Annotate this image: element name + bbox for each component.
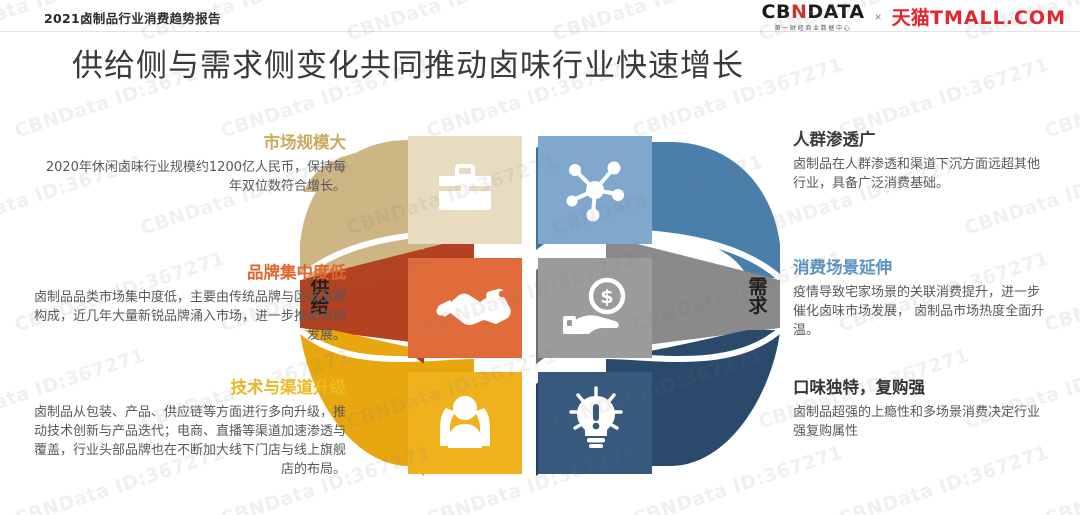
supply-demand-diagram: $ [288,128,792,480]
supply-block-brand-concentration: 品牌集中度低 卤制品品类市场集中度低，主要由传统品牌与区域品牌构成，近几年大量新… [34,263,346,345]
header-divider [0,31,1080,32]
supply-block-tech-channel: 技术与渠道升级 卤制品从包装、产品、供应链等方面进行多向升级，推动技术创新与产品… [34,378,346,479]
cbndata-wordmark: CBNDATA [762,3,865,22]
cbndata-suffix: DATA [807,1,864,23]
block-body: 2020年休闲卤味行业规模约1200亿人民币，保持每年双位数符合增长。 [34,158,346,196]
slide-header: 2021卤制品行业消费趋势报告 CBNDATA 第一财经商业数据中心 × 天猫T… [0,0,1080,31]
demand-block-penetration: 人群渗透广 卤制品在人群渗透和渠道下沉方面远超其他行业，具备广泛消费基础。 [793,130,1045,193]
block-heading: 市场规模大 [34,133,346,154]
block-body: 卤制品在人群渗透和渠道下沉方面远超其他行业，具备广泛消费基础。 [793,155,1045,193]
tmall-logo: 天猫TMALL.COM [892,3,1066,30]
svg-text:$: $ [600,286,613,308]
block-body: 卤制品从包装、产品、供应链等方面进行多向升级，推动技术创新与产品迭代；电商、直播… [34,403,346,479]
block-heading: 消费场景延伸 [793,258,1045,279]
watermark-text: CBNData ID:367271 [1042,248,1080,337]
tmall-en-label: TMALL.COM [930,7,1066,29]
watermark-text: CBNData ID:367271 [1042,442,1080,515]
tmall-cn-label: 天猫 [892,7,930,29]
block-body: 卤制品超强的上瘾性和多场景消费决定行业强复购属性 [793,403,1045,441]
cbndata-prefix: CB [762,1,791,23]
watermark-text: CBNData ID:367271 [836,442,1052,515]
diagram-svg: $ [288,128,792,480]
block-heading: 品牌集中度低 [34,263,346,284]
cbndata-subtitle: 第一财经商业数据中心 [775,25,852,31]
demand-label-char-2: 求 [748,295,767,317]
brand-cross-separator: × [874,10,883,24]
cbndata-logo: CBNDATA 第一财经商业数据中心 [762,3,865,31]
demand-block-consumption-scene: 消费场景延伸 疫情导致宅家场景的关联消费提升，进一步催化卤味市场发展， 卤制品市… [793,258,1045,340]
demand-block-taste-repeat: 口味独特，复购强 卤制品超强的上瘾性和多场景消费决定行业强复购属性 [793,378,1045,441]
block-heading: 人群渗透广 [793,130,1045,151]
supply-block-market-size: 市场规模大 2020年休闲卤味行业规模约1200亿人民币，保持每年双位数符合增长… [34,133,346,196]
report-kicker: 2021卤制品行业消费趋势报告 [44,8,221,27]
block-heading: 口味独特，复购强 [793,378,1045,399]
tile-supply-tech-channel[interactable] [408,372,522,474]
block-body: 疫情导致宅家场景的关联消费提升，进一步催化卤味市场发展， 卤制品市场热度全面升温… [793,283,1045,340]
block-heading: 技术与渠道升级 [34,378,346,399]
block-body: 卤制品品类市场集中度低，主要由传统品牌与区域品牌构成，近几年大量新锐品牌涌入市场… [34,288,346,345]
page-title: 供给侧与需求侧变化共同推动卤味行业快速增长 [72,40,744,85]
slide-root: 2021卤制品行业消费趋势报告 CBNDATA 第一财经商业数据中心 × 天猫T… [0,0,1080,515]
watermark-text: CBNData ID:367271 [1042,54,1080,143]
brand-lockup: CBNDATA 第一财经商业数据中心 × 天猫TMALL.COM [762,3,1066,31]
demand-side-label: 需 求 [747,278,769,317]
cbndata-x-glyph: N [791,1,807,23]
